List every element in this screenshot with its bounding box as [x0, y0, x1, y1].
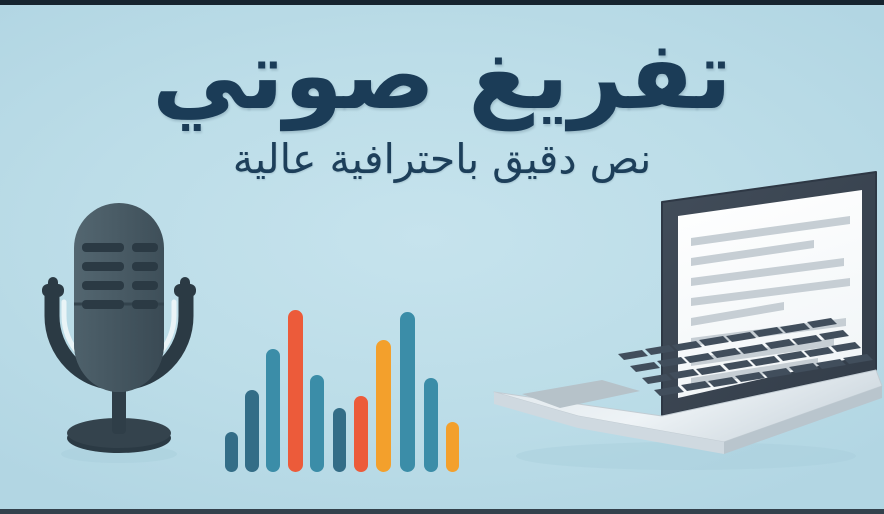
waveform-bar	[446, 422, 459, 472]
waveform-bar	[376, 340, 391, 472]
microphone-grille-slot	[132, 243, 158, 252]
laptop-icon	[486, 158, 884, 478]
keyboard-key	[630, 362, 660, 372]
microphone-pin-right	[180, 277, 190, 303]
microphone-grille-slot	[82, 300, 124, 309]
waveform-bar	[354, 396, 368, 472]
laptop-illustration	[486, 158, 884, 478]
page-title: تفريغ صوتي	[0, 26, 884, 127]
microphone-icon	[34, 186, 204, 471]
waveform-bar	[333, 408, 346, 472]
poster-canvas: تفريغ صوتي نص دقيق باحترافية عالية	[0, 0, 884, 514]
audio-waveform	[214, 300, 476, 472]
keyboard-key	[618, 350, 648, 360]
bottom-edge-bar	[0, 509, 884, 514]
waveform-bar	[266, 349, 280, 472]
waveform-bar	[310, 375, 324, 472]
microphone-grille-slot	[132, 262, 158, 271]
top-edge-bar	[0, 0, 884, 5]
waveform-bar	[225, 432, 238, 472]
microphone-pin-left	[48, 277, 58, 303]
microphone-illustration	[34, 186, 204, 471]
waveform-bar	[245, 390, 259, 472]
waveform-bar	[424, 378, 438, 472]
waveform-bar	[288, 310, 303, 472]
microphone-grille-slot	[132, 281, 158, 290]
waveform-bar	[400, 312, 415, 472]
microphone-grille-slot	[82, 243, 124, 252]
microphone-grille-slot	[82, 262, 124, 271]
microphone-grille-slot	[132, 300, 158, 309]
microphone-grille-slot	[82, 281, 124, 290]
